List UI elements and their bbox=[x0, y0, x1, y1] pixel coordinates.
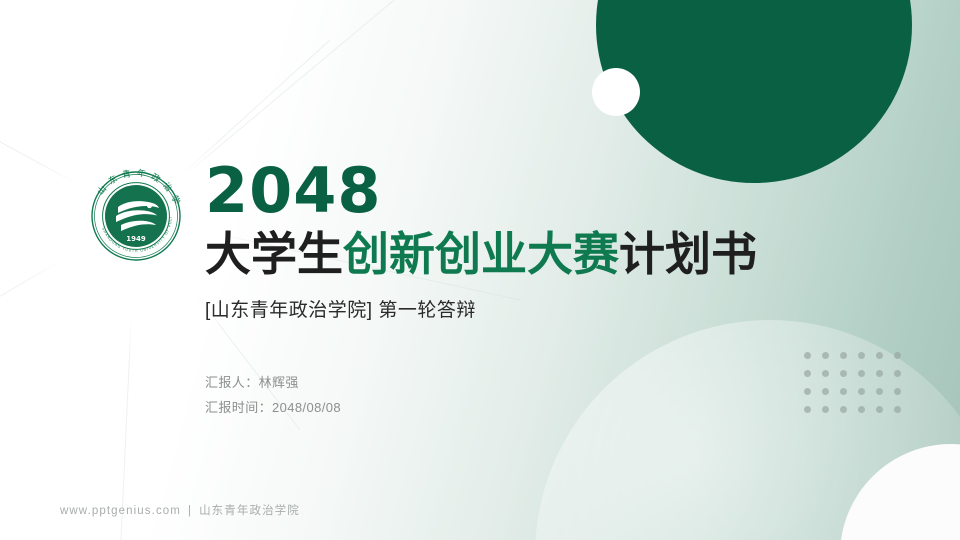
logo-year-text: 1949 bbox=[126, 235, 146, 243]
footer-org: 山东青年政治学院 bbox=[199, 505, 300, 517]
footer-site[interactable]: www.pptgenius.com bbox=[60, 505, 181, 517]
presentation-date-line: 汇报时间：2048/08/08 bbox=[205, 395, 341, 420]
slide-headline: 大学生创新创业大赛计划书 bbox=[205, 227, 905, 281]
decorative-circle-white-small bbox=[592, 68, 640, 116]
footer-separator: | bbox=[188, 505, 192, 517]
presentation-slide: 1949 山东青年政治学院 SHANDONG YOUTH UNIVERSITY … bbox=[0, 0, 960, 540]
university-logo: 1949 山东青年政治学院 SHANDONG YOUTH UNIVERSITY … bbox=[80, 160, 192, 272]
title-text-block: 2048 大学生创新创业大赛计划书 [山东青年政治学院] 第一轮答辩 bbox=[205, 158, 905, 322]
slide-subtitle: [山东青年政治学院] 第一轮答辩 bbox=[205, 295, 905, 322]
headline-lead: 大学生 bbox=[205, 227, 343, 281]
university-seal-icon: 1949 山东青年政治学院 SHANDONG YOUTH UNIVERSITY … bbox=[80, 160, 192, 272]
headline-accent: 创新创业大赛 bbox=[343, 227, 619, 281]
headline-tail: 计划书 bbox=[619, 227, 757, 281]
slide-year: 2048 bbox=[205, 158, 905, 223]
slide-footer: www.pptgenius.com|山东青年政治学院 bbox=[60, 502, 300, 518]
decorative-dot-grid bbox=[804, 352, 912, 424]
presenter-name-line: 汇报人：林辉强 bbox=[205, 370, 341, 395]
presenter-meta: 汇报人：林辉强 汇报时间：2048/08/08 bbox=[205, 370, 341, 421]
